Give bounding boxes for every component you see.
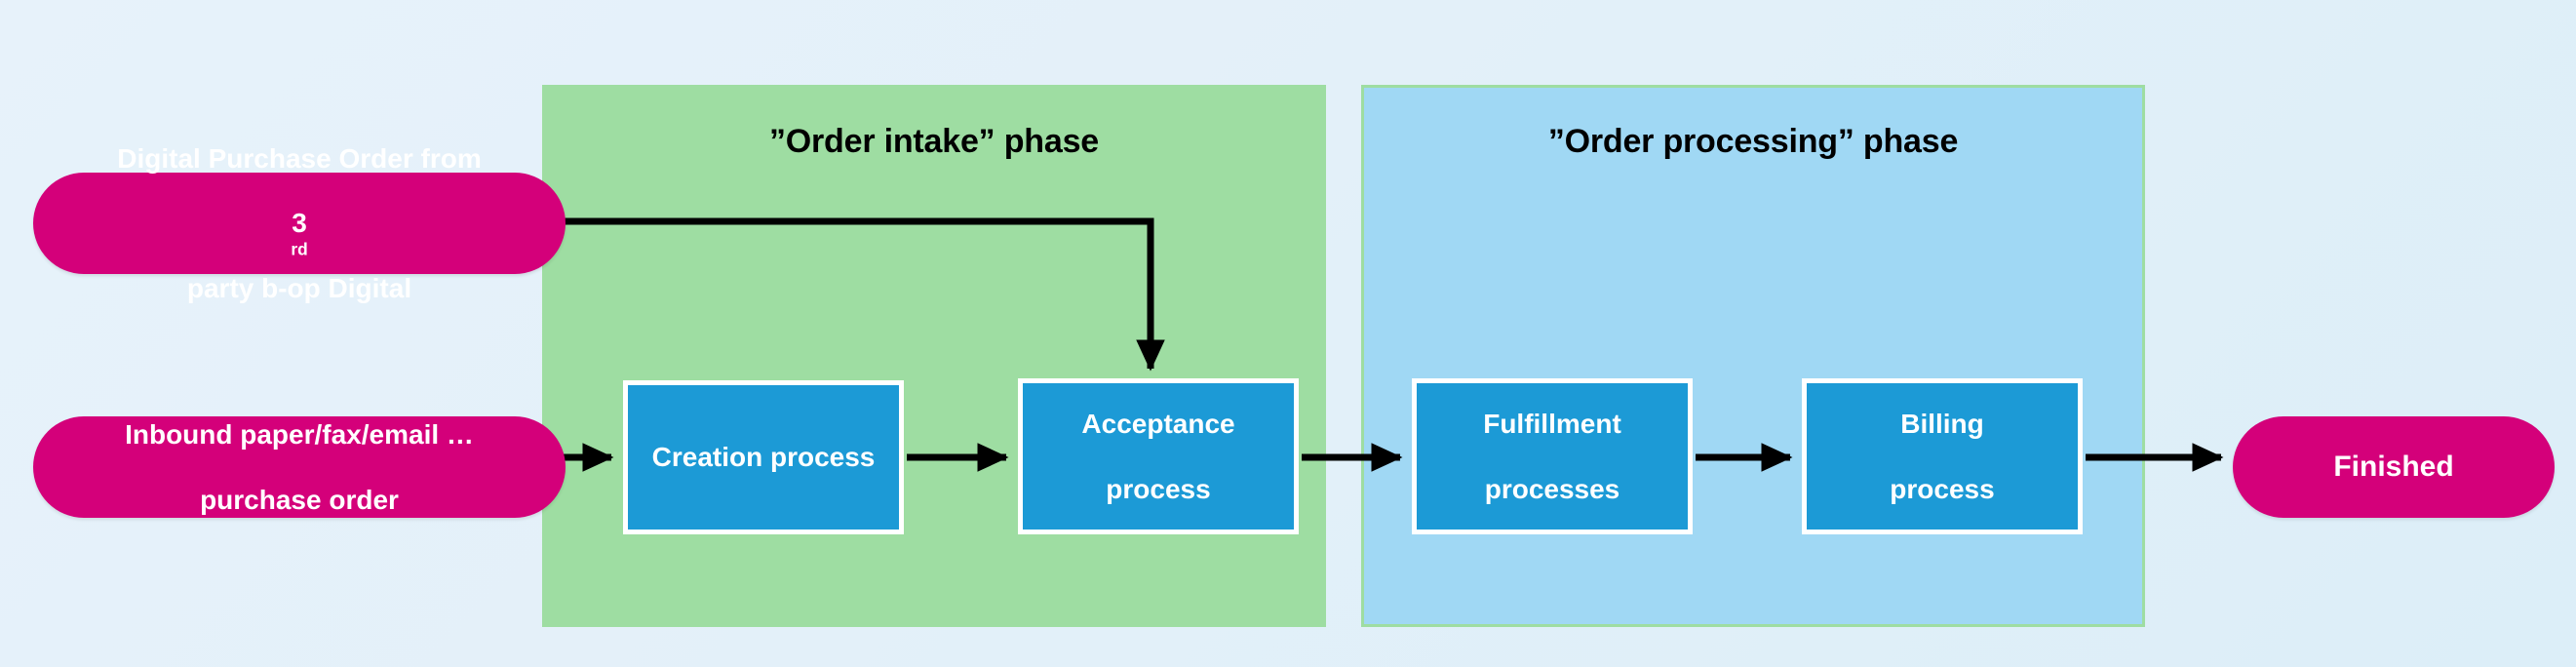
digital-po-ordinal-suffix: rd — [291, 239, 307, 258]
diagram-canvas: ”Order intake” phase ”Order processing” … — [0, 0, 2576, 667]
inbound-po-line-2: purchase order — [51, 484, 548, 516]
acceptance-process-line-2: process — [1034, 473, 1282, 506]
node-acceptance-process-label: Acceptance process — [1034, 408, 1282, 506]
fulfillment-processes-line-2: processes — [1428, 473, 1676, 506]
fulfillment-processes-line-1: Fulfillment — [1428, 408, 1676, 441]
phase-panel-order-processing: ”Order processing” phase — [1361, 85, 2145, 627]
node-creation-process-label: Creation process — [640, 441, 887, 474]
creation-process-line-1: Creation process — [640, 441, 887, 474]
phase-title-order-processing: ”Order processing” phase — [1364, 123, 2142, 161]
digital-po-line-2-rest: party b-op Digital — [51, 272, 548, 304]
node-acceptance-process[interactable]: Acceptance process — [1018, 378, 1299, 534]
node-fulfillment-processes-label: Fulfillment processes — [1428, 408, 1676, 506]
node-billing-process[interactable]: Billing process — [1802, 378, 2083, 534]
node-billing-process-label: Billing process — [1818, 408, 2066, 506]
billing-process-line-1: Billing — [1818, 408, 2066, 441]
node-fulfillment-processes[interactable]: Fulfillment processes — [1412, 378, 1693, 534]
phase-panel-order-intake: ”Order intake” phase — [542, 85, 1326, 627]
phase-title-order-intake: ”Order intake” phase — [542, 123, 1326, 161]
acceptance-process-line-1: Acceptance — [1034, 408, 1282, 441]
inbound-po-line-1: Inbound paper/fax/email … — [51, 418, 548, 451]
node-inbound-purchase-order[interactable]: Inbound paper/fax/email … purchase order — [33, 416, 566, 518]
node-digital-purchase-order-label: Digital Purchase Order from 3rd party b-… — [51, 142, 548, 303]
digital-po-line-2: 3rd party b-op Digital — [51, 207, 548, 303]
digital-po-ordinal-number: 3 — [51, 207, 548, 239]
node-finished-label: Finished — [2250, 450, 2537, 484]
node-finished[interactable]: Finished — [2233, 416, 2555, 518]
node-creation-process[interactable]: Creation process — [623, 380, 904, 534]
billing-process-line-2: process — [1818, 473, 2066, 506]
digital-po-line-1: Digital Purchase Order from — [51, 142, 548, 175]
node-inbound-purchase-order-label: Inbound paper/fax/email … purchase order — [51, 418, 548, 515]
node-digital-purchase-order[interactable]: Digital Purchase Order from 3rd party b-… — [33, 173, 566, 274]
